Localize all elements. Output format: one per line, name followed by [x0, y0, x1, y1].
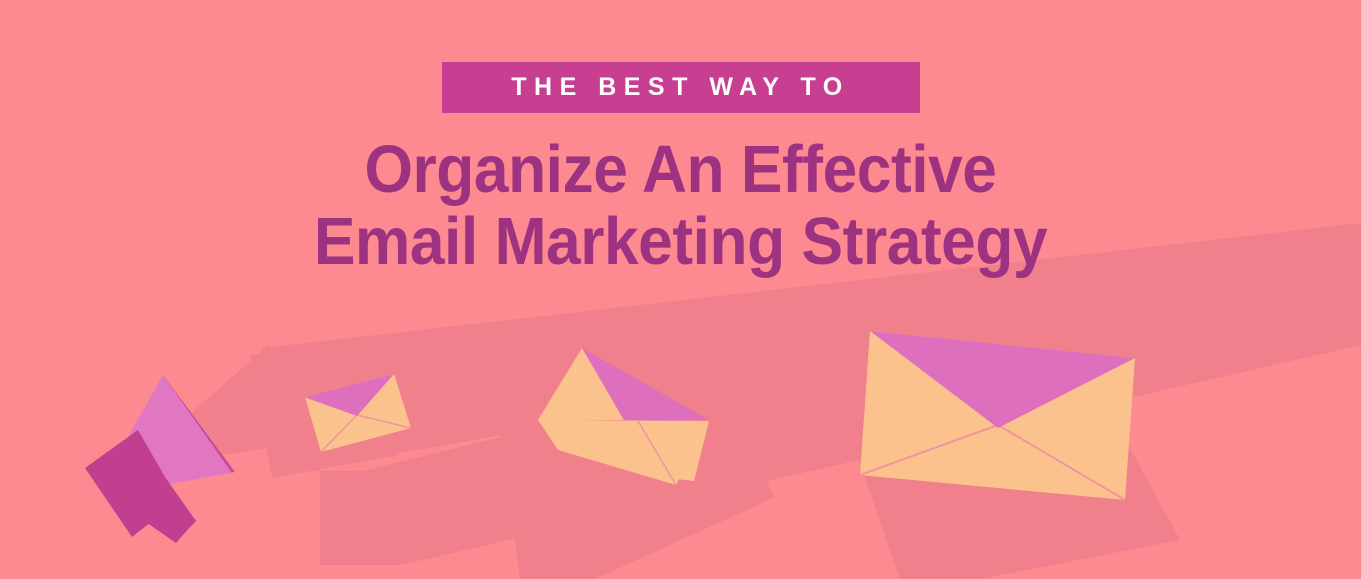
headline-block: THE BEST WAY TO Organize An Effective Em…: [0, 0, 1361, 278]
page-title: Organize An Effective Email Marketing St…: [48, 134, 1314, 278]
megaphone-icon: [85, 375, 235, 543]
eyebrow-badge: THE BEST WAY TO: [442, 62, 920, 113]
email-marketing-banner: THE BEST WAY TO Organize An Effective Em…: [0, 0, 1361, 579]
envelope-small: [305, 374, 411, 452]
envelope-large: [860, 331, 1135, 500]
headline-line-2: Email Marketing Strategy: [48, 206, 1314, 278]
envelope-medium: [538, 348, 709, 485]
headline-line-1: Organize An Effective: [48, 134, 1314, 206]
